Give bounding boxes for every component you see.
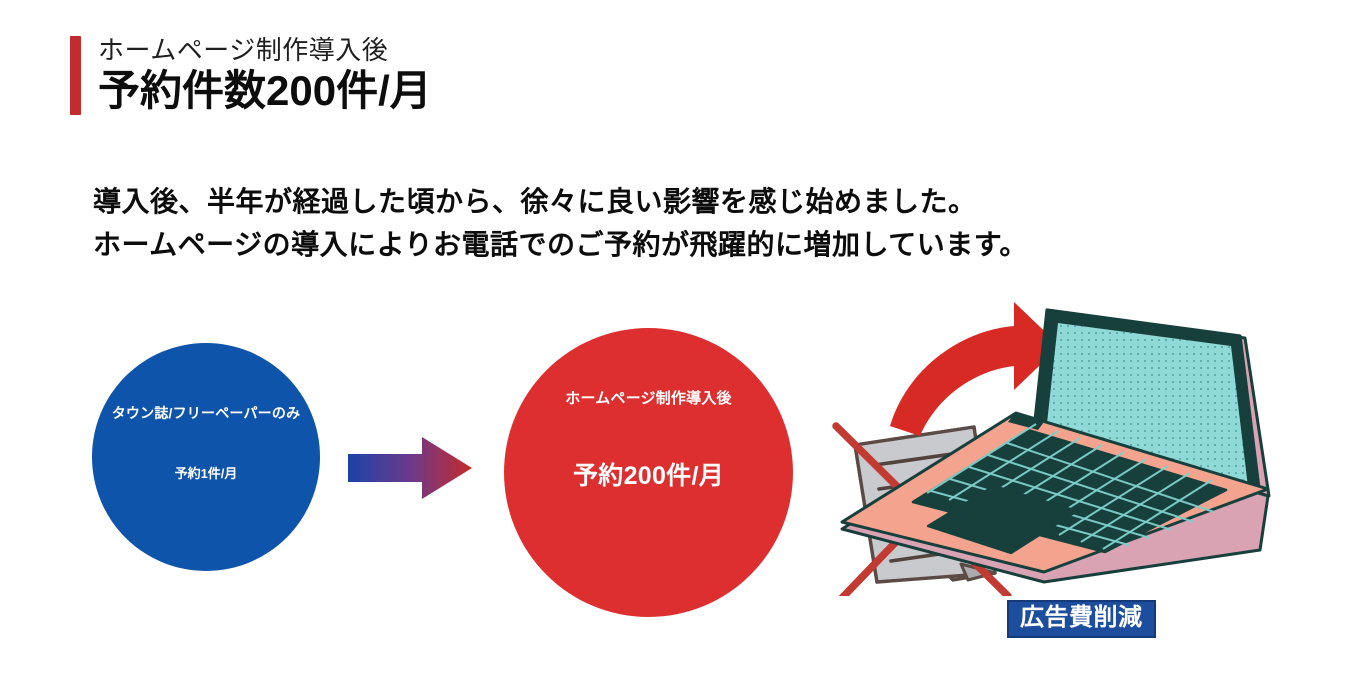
before-bubble-value: 予約1件/月 <box>175 463 238 482</box>
after-bubble-value: 予約200件/月 <box>573 456 724 492</box>
transition-arrow <box>348 437 472 499</box>
body-copy: 導入後、半年が経過した頃から、徐々に良い影響を感じ始めました。 ホームページの導… <box>93 180 1028 267</box>
before-bubble-caption: タウン誌/フリーペーパーのみ <box>112 405 301 422</box>
body-copy-line-1: 導入後、半年が経過した頃から、徐々に良い影響を感じ始めました。 <box>93 180 1028 223</box>
illustration-svg <box>828 296 1288 596</box>
status-badge: 広告費削減 <box>1007 600 1156 638</box>
after-bubble: ホームページ制作導入後 予約200件/月 <box>504 328 793 617</box>
header-text-group: ホームページ制作導入後 予約件数200件/月 <box>98 36 432 115</box>
transition-arrow-icon <box>348 437 472 499</box>
after-bubble-caption: ホームページ制作導入後 <box>565 390 731 408</box>
page-title: 予約件数200件/月 <box>98 67 432 115</box>
accent-bar <box>70 36 81 115</box>
eyebrow-text: ホームページ制作導入後 <box>98 36 432 65</box>
illustration-group <box>828 296 1288 596</box>
before-bubble: タウン誌/フリーペーパーのみ 予約1件/月 <box>92 343 320 571</box>
slide-canvas: ホームページ制作導入後 予約件数200件/月 導入後、半年が経過した頃から、徐々… <box>0 0 1356 678</box>
body-copy-line-2: ホームページの導入によりお電話でのご予約が飛躍的に増加しています。 <box>93 223 1028 266</box>
page-header: ホームページ制作導入後 予約件数200件/月 <box>70 36 432 115</box>
